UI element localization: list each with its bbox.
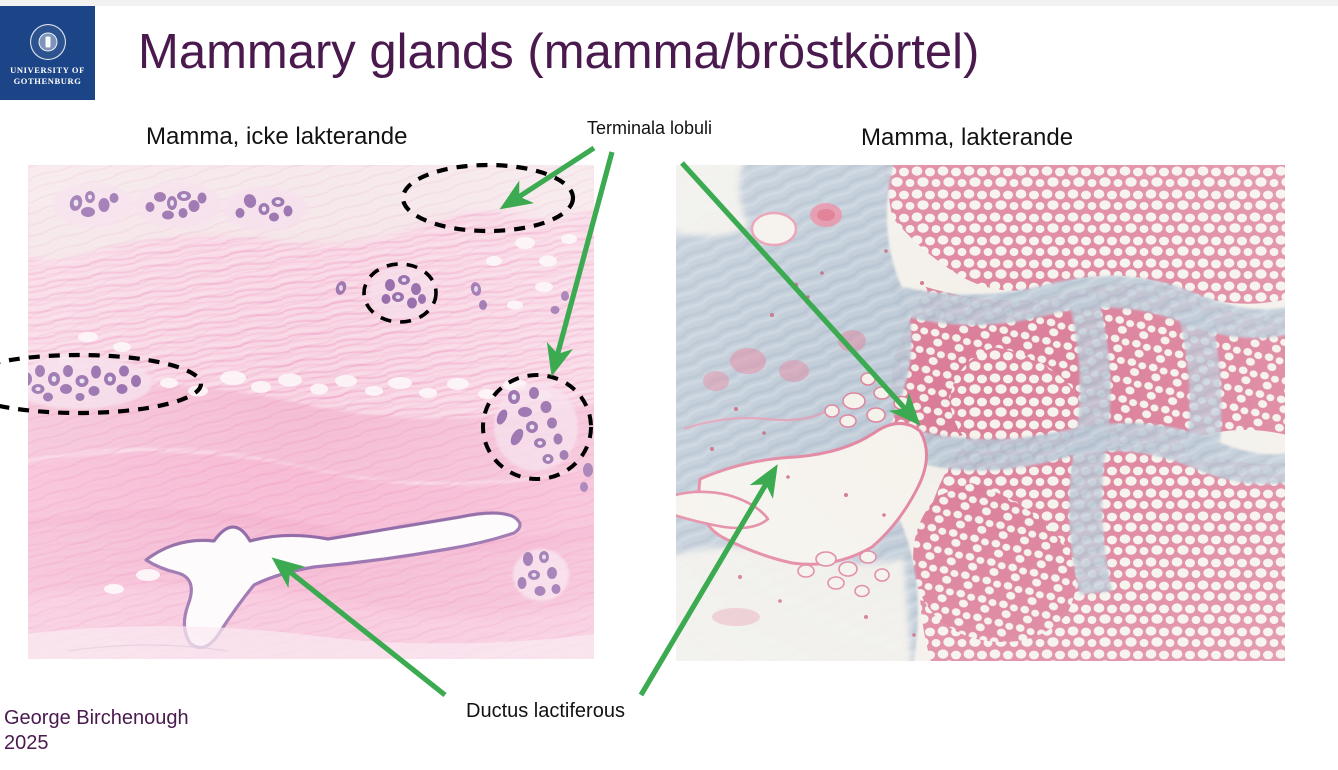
- non-lactating-mammary-histology: [28, 165, 594, 659]
- footer-year: 2025: [4, 731, 189, 756]
- top-strip: [0, 0, 1338, 6]
- caption-lactating: Mamma, lakterande: [861, 124, 1073, 152]
- footer-author: George Birchenough: [4, 706, 189, 731]
- slide-title: Mammary glands (mamma/bröstkörtel): [138, 22, 979, 82]
- annotation-label-ductus-lactiferous: Ductus lactiferous: [466, 700, 625, 723]
- footer: George Birchenough 2025: [4, 706, 189, 756]
- caption-non-lactating: Mamma, icke lakterande: [146, 123, 407, 151]
- logo-line-1: UNIVERSITY OF: [10, 65, 85, 76]
- lactating-mammary-histology: [676, 165, 1285, 661]
- university-of-gothenburg-logo: UNIVERSITY OF GOTHENBURG: [0, 6, 95, 100]
- university-seal-icon: [30, 24, 66, 60]
- annotation-label-terminala-lobuli: Terminala lobuli: [587, 118, 712, 139]
- slide-canvas: UNIVERSITY OF GOTHENBURG Mammary glands …: [0, 0, 1338, 770]
- logo-line-2: GOTHENBURG: [14, 76, 82, 87]
